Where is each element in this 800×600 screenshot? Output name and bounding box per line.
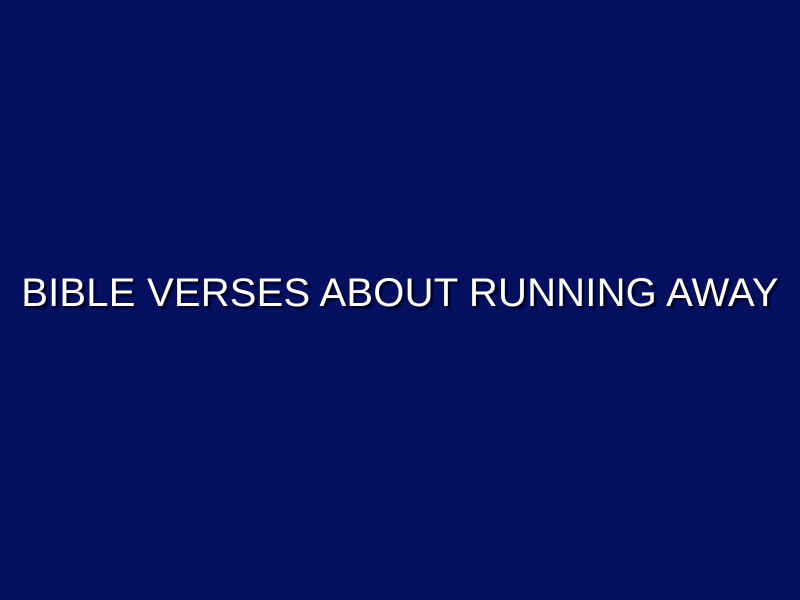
headline-container: BIBLE VERSES ABOUT RUNNING AWAY — [0, 0, 800, 600]
title-card: BIBLE VERSES ABOUT RUNNING AWAY — [0, 0, 800, 600]
page-title: BIBLE VERSES ABOUT RUNNING AWAY — [21, 271, 779, 315]
